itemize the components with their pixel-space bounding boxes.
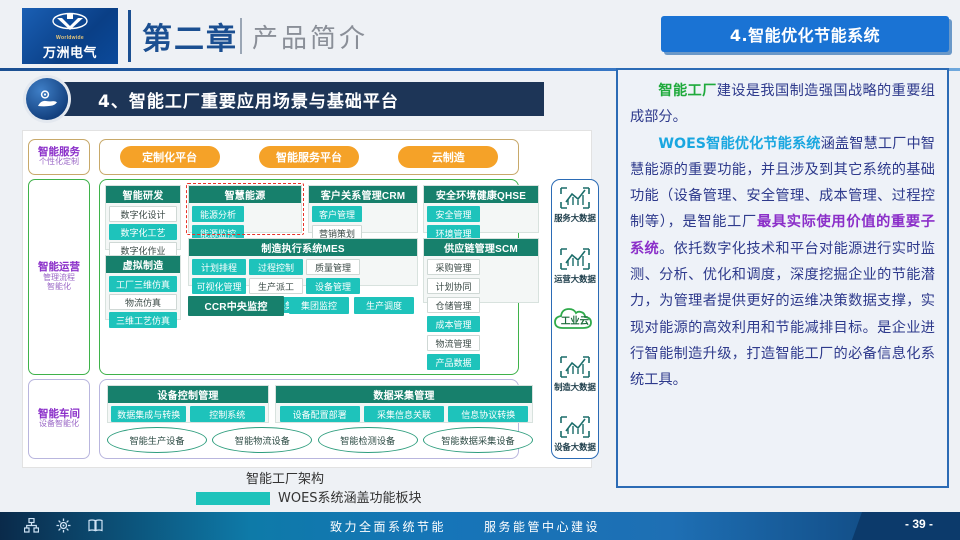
chip[interactable]: 安全管理 <box>427 206 480 222</box>
logo-chinese: 万洲电气 <box>43 42 97 61</box>
chip[interactable]: 三维工艺仿真 <box>109 312 177 328</box>
logo-mark-icon <box>50 12 90 34</box>
chip[interactable]: 成本管理 <box>427 316 480 332</box>
rail-item-operation-bigdata: 运营大数据 <box>554 246 596 285</box>
gear-hand-icon <box>26 78 68 120</box>
card-smart-rd: 智能研发 数字化设计 数字化工艺 数字化作业 <box>105 185 181 250</box>
card-title: 供应链管理SCM <box>424 239 538 256</box>
card-mes: 制造执行系统MES 计划排程 过程控制 质量管理 可视化管理 生产派工 设备管理… <box>188 238 418 286</box>
rail-item-equipment-bigdata: 设备大数据 <box>554 414 596 453</box>
card-qhse: 安全环境健康QHSE 安全管理 环境管理 健康管理 <box>423 185 539 233</box>
paragraph-2-rest: 。依托数字化技术和平台对能源进行实时监测、分析、优化和调度，深度挖掘企业的节能潜… <box>630 241 935 388</box>
bar-chart-icon <box>558 414 592 440</box>
card-equipment-control: 设备控制管理 数据集成与转换 控制系统 <box>107 385 269 423</box>
footer-slogan-1: 致力全面系统节能 <box>330 518 446 535</box>
card-virtual-manufacturing: 虚拟制造 工厂三维仿真 物流仿真 三维工艺仿真 <box>105 255 181 320</box>
chip[interactable]: 计划协同 <box>427 278 480 294</box>
chip[interactable]: 设备配置部署 <box>280 406 360 422</box>
platform-row: 定制化平台 智能服务平台 云制造 <box>99 139 519 175</box>
chip[interactable]: 质量管理 <box>306 259 360 275</box>
card-title: CCR中央监控 <box>188 296 284 316</box>
layer-label-smart-operation: 智能运营 管理流程 智能化 <box>28 179 90 375</box>
rail-item-service-bigdata: 服务大数据 <box>554 185 596 224</box>
right-panel-title-text: 4.智能优化节能系统 <box>730 22 880 46</box>
equipment-logistics[interactable]: 智能物流设备 <box>212 427 312 453</box>
chip[interactable]: 采集信息关联 <box>364 406 444 422</box>
rail-label: 工业云 <box>552 308 598 332</box>
chip[interactable]: 信息协议转换 <box>448 406 528 422</box>
chip[interactable]: 物流仿真 <box>109 294 177 310</box>
rail-label: 制造大数据 <box>554 381 596 393</box>
chip[interactable]: 计划排程 <box>192 259 246 275</box>
right-paragraph-2: WOES智能优化节能系统涵盖智慧工厂中智慧能源的重要功能，并且涉及到其它系统的基… <box>630 131 935 394</box>
chip[interactable]: 数据集成与转换 <box>111 406 186 422</box>
bar-chart-icon <box>558 246 592 272</box>
big-data-rail: 服务大数据 运营大数据 工业云 制造大数据 <box>551 179 599 459</box>
rail-item-manufacturing-bigdata: 制造大数据 <box>554 354 596 393</box>
card-title: 客户关系管理CRM <box>309 186 417 203</box>
gear-icon[interactable] <box>56 518 71 536</box>
equipment-row: 智能生产设备 智能物流设备 智能检测设备 智能数据采集设备 <box>107 427 533 455</box>
chip[interactable]: 集团监控 <box>289 297 349 314</box>
chip[interactable]: 仓储管理 <box>427 297 480 313</box>
rail-item-industrial-cloud: 工业云 <box>552 306 598 332</box>
rail-label: 设备大数据 <box>554 441 596 453</box>
chip[interactable]: 客户管理 <box>312 206 362 222</box>
bar-chart-icon <box>558 185 592 211</box>
equipment-inspection[interactable]: 智能检测设备 <box>318 427 418 453</box>
footer-slogan-2: 服务能管中心建设 <box>484 518 600 535</box>
legend-swatch <box>196 492 270 505</box>
platform-cloud-manufacturing[interactable]: 云制造 <box>398 146 498 168</box>
chip[interactable]: 生产调度 <box>354 297 414 314</box>
card-title: 智能研发 <box>106 186 180 203</box>
highlight-woes: WOES智能优化节能系统 <box>658 136 820 152</box>
chip[interactable]: 过程控制 <box>249 259 303 275</box>
right-panel-title: 4.智能优化节能系统 <box>661 16 949 52</box>
layer-subtitle: 管理流程 智能化 <box>43 274 75 292</box>
book-icon[interactable] <box>88 518 103 536</box>
card-scm: 供应链管理SCM 采购管理 计划协同 仓储管理 成本管理 物流管理 产品数据 <box>423 238 539 303</box>
card-title: 制造执行系统MES <box>189 239 417 256</box>
bar-chart-icon <box>558 354 592 380</box>
chip[interactable]: 产品数据 <box>427 354 480 370</box>
chapter-separator <box>240 18 242 54</box>
section-title-text: 4、智能工厂重要应用场景与基础平台 <box>98 87 399 112</box>
chapter-subtitle: 产品简介 <box>252 18 368 55</box>
card-title: 设备控制管理 <box>108 386 268 403</box>
card-title: 数据采集管理 <box>276 386 532 403</box>
card-title: 安全环境健康QHSE <box>424 186 538 203</box>
card-title: 智慧能源 <box>189 186 301 203</box>
diagram-caption: 智能工厂架构 <box>246 468 324 487</box>
chip[interactable]: 控制系统 <box>190 406 265 422</box>
chapter-title: 第二章 <box>142 14 238 58</box>
chip[interactable]: 数字化设计 <box>109 206 177 222</box>
platform-custom[interactable]: 定制化平台 <box>120 146 220 168</box>
header-divider <box>128 10 131 62</box>
card-smart-energy: 智慧能源 能源分析 能源监控 能源调度 能源优化 <box>188 185 302 233</box>
card-ccr: CCR中央监控 集团监控 生产调度 <box>188 291 418 320</box>
chip[interactable]: 能源分析 <box>192 206 244 222</box>
right-panel-body: 智能工厂建设是我国制造强国战略的重要组成部分。 WOES智能优化节能系统涵盖智慧… <box>616 68 949 488</box>
footer-bar <box>0 512 960 540</box>
sitemap-icon[interactable] <box>24 518 39 536</box>
chip[interactable]: 采购管理 <box>427 259 480 275</box>
card-crm: 客户关系管理CRM 客户管理 营销策划 销售管理 销售预测 <box>308 185 418 233</box>
chip[interactable]: 工厂三维仿真 <box>109 276 177 292</box>
section-title-bar: 4、智能工厂重要应用场景与基础平台 <box>62 82 544 116</box>
platform-smart-service[interactable]: 智能服务平台 <box>259 146 359 168</box>
layer-subtitle: 个性化定制 <box>39 158 79 167</box>
highlight-smart-factory: 智能工厂 <box>658 83 716 99</box>
layer-subtitle: 设备智能化 <box>39 420 79 429</box>
card-title: 虚拟制造 <box>106 256 180 273</box>
equipment-production[interactable]: 智能生产设备 <box>107 427 207 453</box>
smart-factory-architecture-diagram: 智能服务 个性化定制 智能运营 管理流程 智能化 智能车间 设备智能化 定制化平… <box>22 130 592 468</box>
layer-label-smart-workshop: 智能车间 设备智能化 <box>28 379 90 459</box>
chip[interactable]: 物流管理 <box>427 335 480 351</box>
rail-label: 服务大数据 <box>554 212 596 224</box>
company-logo: Worldwide 万洲电气 <box>22 8 118 64</box>
chip[interactable]: 数字化工艺 <box>109 224 177 240</box>
page-number: - 39 - <box>905 517 933 531</box>
rail-label: 运营大数据 <box>554 273 596 285</box>
card-data-acquisition: 数据采集管理 设备配置部署 采集信息关联 信息协议转换 <box>275 385 533 423</box>
right-paragraph-1: 智能工厂建设是我国制造强国战略的重要组成部分。 <box>630 78 935 131</box>
layer-label-smart-service: 智能服务 个性化定制 <box>28 139 90 175</box>
equipment-data-acquisition[interactable]: 智能数据采集设备 <box>423 427 533 453</box>
logo-english: Worldwide <box>56 35 84 41</box>
legend-text: WOES系统涵盖功能板块 <box>278 487 422 506</box>
